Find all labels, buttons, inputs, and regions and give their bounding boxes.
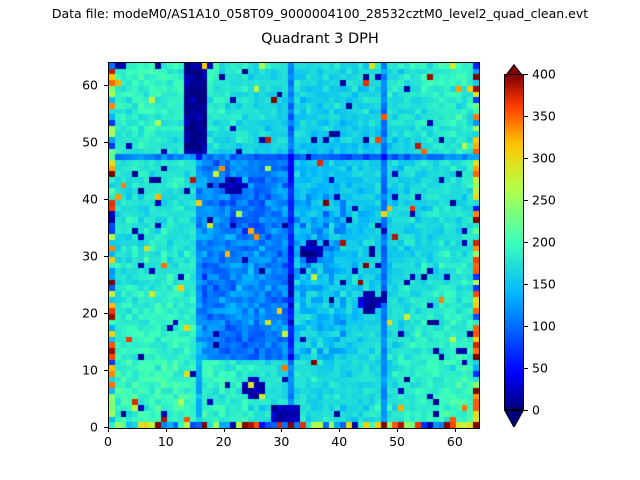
y-tick-label: 0 xyxy=(0,420,98,435)
colorbar-tick-label: 50 xyxy=(532,361,548,376)
x-tick-label: 20 xyxy=(216,434,232,449)
colorbar-tick-mark xyxy=(524,410,528,411)
colorbar-tick-mark xyxy=(524,326,528,327)
data-file-label: Data file: modeM0/AS1A10_058T09_90000041… xyxy=(0,6,640,21)
colorbar-tick-mark xyxy=(524,200,528,201)
x-tick-mark xyxy=(108,428,109,432)
colorbar-tick-label: 200 xyxy=(532,235,556,250)
y-tick-mark xyxy=(104,256,108,257)
colorbar-tick-label: 400 xyxy=(532,67,556,82)
y-tick-label: 10 xyxy=(0,362,98,377)
y-tick-mark xyxy=(104,142,108,143)
x-tick-mark xyxy=(455,428,456,432)
colorbar-tick-mark xyxy=(524,284,528,285)
y-tick-label: 30 xyxy=(0,248,98,263)
x-tick-label: 10 xyxy=(158,434,174,449)
colorbar-tick-label: 100 xyxy=(532,319,556,334)
colorbar-extend-min-arrow xyxy=(504,410,524,427)
x-tick-mark xyxy=(397,428,398,432)
y-tick-label: 20 xyxy=(0,305,98,320)
x-tick-mark xyxy=(224,428,225,432)
colorbar-tick-mark xyxy=(524,158,528,159)
colorbar-tick-mark xyxy=(524,116,528,117)
y-tick-mark xyxy=(104,427,108,428)
y-tick-mark xyxy=(104,199,108,200)
colorbar-tick-mark xyxy=(524,368,528,369)
x-tick-label: 40 xyxy=(331,434,347,449)
y-tick-mark xyxy=(104,85,108,86)
y-tick-label: 50 xyxy=(0,134,98,149)
colorbar-max-arrow-icon xyxy=(504,64,524,74)
colorbar-gradient xyxy=(504,74,524,410)
heatmap-axes xyxy=(108,62,480,429)
x-tick-mark xyxy=(281,428,282,432)
x-tick-label: 50 xyxy=(389,434,405,449)
plot-title: Quadrant 3 DPH xyxy=(0,31,640,47)
y-tick-mark xyxy=(104,313,108,314)
x-tick-label: 60 xyxy=(447,434,463,449)
colorbar-tick-label: 0 xyxy=(532,403,540,418)
colorbar-tick-label: 350 xyxy=(532,109,556,124)
colorbar-tick-label: 150 xyxy=(532,277,556,292)
y-tick-label: 60 xyxy=(0,77,98,92)
heatmap-image xyxy=(109,63,479,428)
colorbar-min-arrow-icon xyxy=(504,410,524,427)
colorbar-tick-mark xyxy=(524,74,528,75)
y-tick-mark xyxy=(104,370,108,371)
figure-canvas: Data file: modeM0/AS1A10_058T09_90000041… xyxy=(0,0,640,480)
x-tick-label: 30 xyxy=(273,434,289,449)
y-tick-label: 40 xyxy=(0,191,98,206)
colorbar-tick-label: 300 xyxy=(532,151,556,166)
colorbar-extend-max-arrow xyxy=(504,62,524,74)
colorbar: 050100150200250300350400 xyxy=(504,62,524,427)
x-tick-label: 0 xyxy=(104,434,112,449)
colorbar-tick-label: 250 xyxy=(532,193,556,208)
colorbar-tick-mark xyxy=(524,242,528,243)
x-tick-mark xyxy=(339,428,340,432)
x-tick-mark xyxy=(166,428,167,432)
